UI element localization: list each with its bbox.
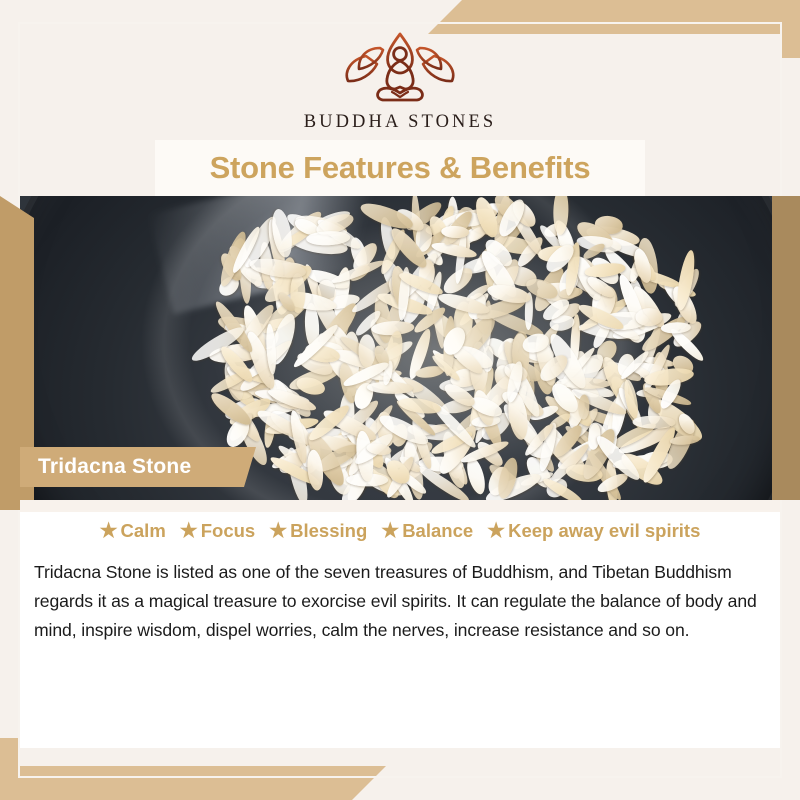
product-caption-banner: Tridacna Stone: [20, 447, 256, 487]
decor-band-bottom-left-side: [0, 738, 20, 800]
brand-logo: BUDDHA STONES: [0, 26, 800, 133]
title-banner: Stone Features & Benefits: [155, 140, 645, 196]
stone-piece: [670, 435, 701, 446]
content-card-top-edge: [20, 500, 780, 512]
decor-band-bottom-left: [0, 766, 386, 800]
page-root: BUDDHA STONES Stone Features & Benefits …: [0, 0, 800, 800]
decor-strip-right: [772, 196, 800, 500]
feature-label: Balance: [402, 520, 473, 542]
feature-label: Calm: [121, 520, 166, 542]
content-card: ★Calm★Focus★Blessing★Balance★Keep away e…: [20, 500, 780, 748]
star-icon: ★: [269, 521, 287, 541]
feature-item: ★Calm: [100, 520, 166, 542]
stone-piece: [358, 334, 375, 367]
stone-piece: [635, 308, 662, 326]
feature-item: ★Balance: [381, 520, 473, 542]
feature-label: Keep away evil spirits: [508, 520, 700, 542]
feature-list: ★Calm★Focus★Blessing★Balance★Keep away e…: [20, 520, 780, 542]
feature-label: Blessing: [290, 520, 367, 542]
feature-item: ★Keep away evil spirits: [487, 520, 700, 542]
product-caption: Tridacna Stone: [38, 455, 191, 479]
feature-item: ★Blessing: [269, 520, 367, 542]
star-icon: ★: [381, 521, 399, 541]
page-title: Stone Features & Benefits: [210, 150, 591, 186]
brand-name: BUDDHA STONES: [304, 112, 497, 133]
stone-piece: [633, 416, 676, 429]
description-text: Tridacna Stone is listed as one of the s…: [34, 558, 758, 646]
lotus-meditation-icon: [336, 26, 464, 106]
feature-item: ★Focus: [180, 520, 255, 542]
star-icon: ★: [180, 521, 198, 541]
star-icon: ★: [100, 521, 118, 541]
feature-label: Focus: [201, 520, 255, 542]
star-icon: ★: [487, 521, 505, 541]
